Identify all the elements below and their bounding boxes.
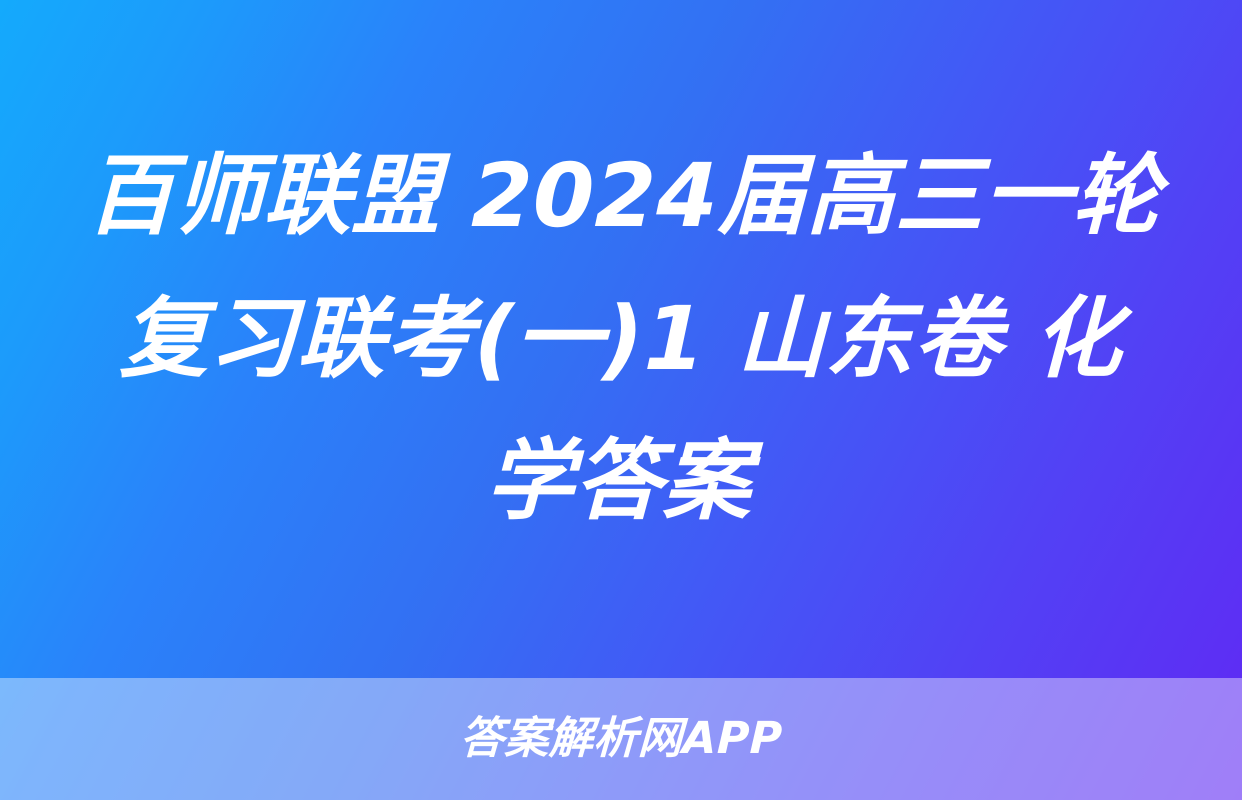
answer-cover-card: 百师联盟 2024届高三一轮复习联考(一)1 山东卷 化学答案 答案解析网APP bbox=[0, 0, 1242, 800]
watermark-band: 答案解析网APP bbox=[0, 678, 1242, 800]
app-watermark-label: 答案解析网APP bbox=[459, 717, 783, 761]
title-block: 百师联盟 2024届高三一轮复习联考(一)1 山东卷 化学答案 bbox=[0, 0, 1242, 678]
page-title: 百师联盟 2024届高三一轮复习联考(一)1 山东卷 化学答案 bbox=[74, 125, 1167, 553]
